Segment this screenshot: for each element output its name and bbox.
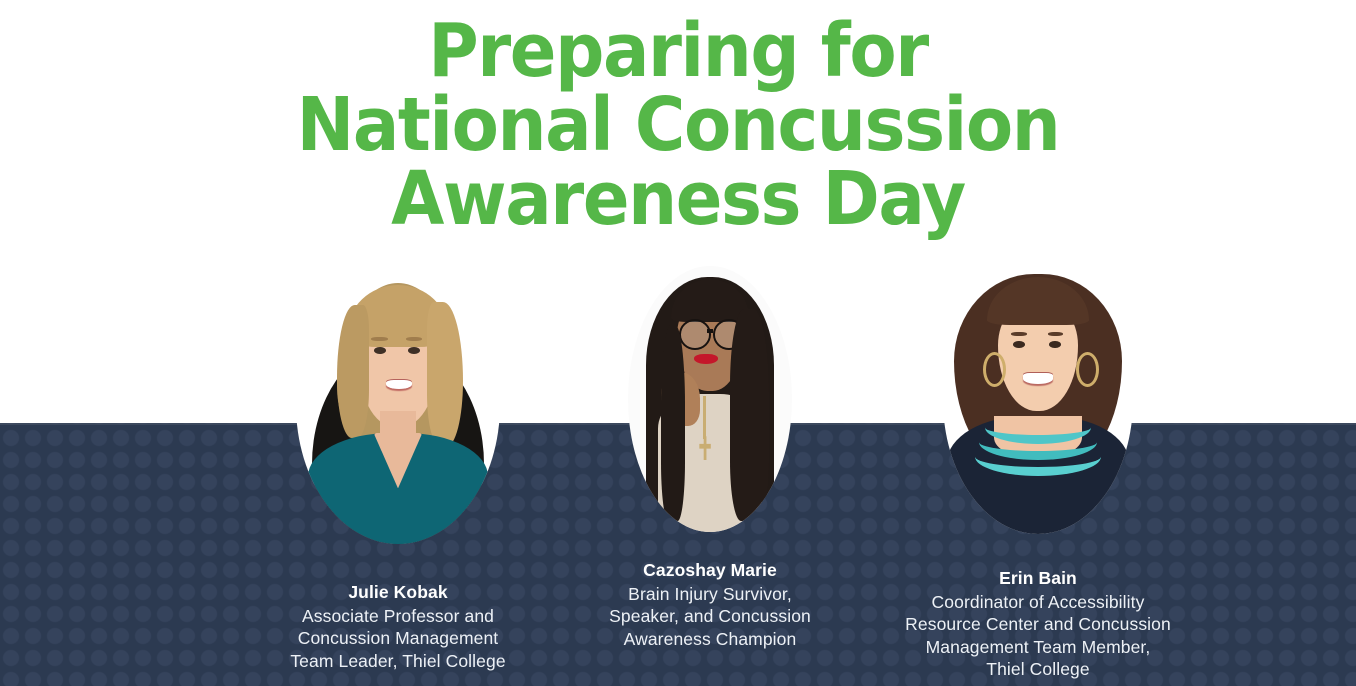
portrait-julie-kobak	[296, 266, 500, 544]
speaker-card-2: Cazoshay MarieBrain Injury Survivor, Spe…	[565, 266, 855, 650]
eyeglasses-bridge	[707, 329, 714, 333]
eye-right	[408, 347, 420, 354]
eyeglasses-left-lens	[679, 319, 711, 350]
speaker-caption-2: Cazoshay MarieBrain Injury Survivor, Spe…	[565, 536, 855, 650]
speaker-name: Julie Kobak	[253, 581, 543, 604]
speaker-name: Erin Bain	[885, 567, 1191, 590]
eyebrow-left	[371, 337, 387, 341]
speaker-caption-1: Julie KobakAssociate Professor and Concu…	[253, 558, 543, 672]
speaker-caption-3: Erin BainCoordinator of Accessibility Re…	[885, 544, 1191, 681]
eye-left	[1013, 341, 1024, 348]
portrait-erin-bain	[943, 266, 1133, 534]
hair-strand-left	[661, 325, 686, 522]
poster-slide: Preparing for National Concussion Awaren…	[0, 0, 1356, 686]
necklace-chain	[703, 396, 705, 439]
smile	[1023, 373, 1053, 384]
speaker-card-3: Erin BainCoordinator of Accessibility Re…	[885, 266, 1191, 681]
portrait-cazoshay-marie	[628, 266, 792, 532]
hoop-earring-right	[1076, 352, 1099, 387]
hair-strand-right	[730, 309, 769, 522]
speaker-name: Cazoshay Marie	[565, 559, 855, 582]
eye-right	[1049, 341, 1060, 348]
eyebrow-right	[1048, 332, 1063, 336]
eye-left	[374, 347, 386, 354]
speaker-title: Brain Injury Survivor, Speaker, and Conc…	[609, 584, 811, 649]
eyebrow-left	[1011, 332, 1026, 336]
hoop-earring-left	[983, 352, 1006, 387]
hair-left	[337, 305, 370, 438]
speaker-card-1: Julie KobakAssociate Professor and Concu…	[253, 266, 543, 672]
speaker-title: Coordinator of Accessibility Resource Ce…	[905, 592, 1171, 680]
page-title: Preparing for National Concussion Awaren…	[47, 14, 1308, 236]
turquoise-necklace-strand-3	[975, 438, 1100, 476]
speaker-list: Julie KobakAssociate Professor and Concu…	[0, 266, 1356, 686]
speaker-title: Associate Professor and Concussion Manag…	[290, 606, 505, 671]
